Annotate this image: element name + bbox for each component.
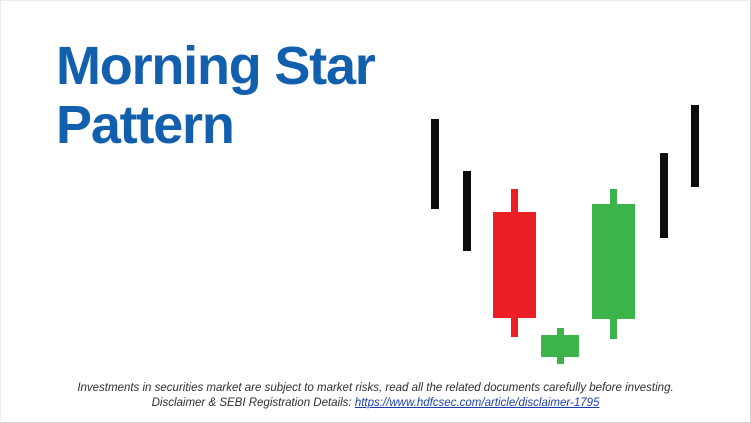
disclaimer-link[interactable]: https://www.hdfcsec.com/article/disclaim… — [355, 397, 600, 409]
disclaimer-line-1: Investments in securities market are sub… — [1, 381, 750, 396]
candle-body-bullish — [592, 204, 635, 319]
disclaimer-line-2: Disclaimer & SEBI Registration Details: … — [1, 396, 750, 411]
candle-body-bearish — [493, 212, 536, 318]
disclaimer-line-2-prefix: Disclaimer & SEBI Registration Details: — [152, 397, 355, 409]
morning-star-pattern-slide: Morning Star Pattern Investments in s — [0, 0, 751, 423]
candle-prior-bar-1 — [431, 119, 439, 209]
candle-following-bar-2 — [691, 105, 699, 187]
disclaimer: Investments in securities market are sub… — [1, 381, 750, 411]
candle-prior-bar-2 — [463, 171, 471, 251]
candlestick-chart — [1, 1, 751, 423]
candle-following-bar-1 — [660, 153, 668, 238]
candle-body-star — [541, 335, 579, 357]
